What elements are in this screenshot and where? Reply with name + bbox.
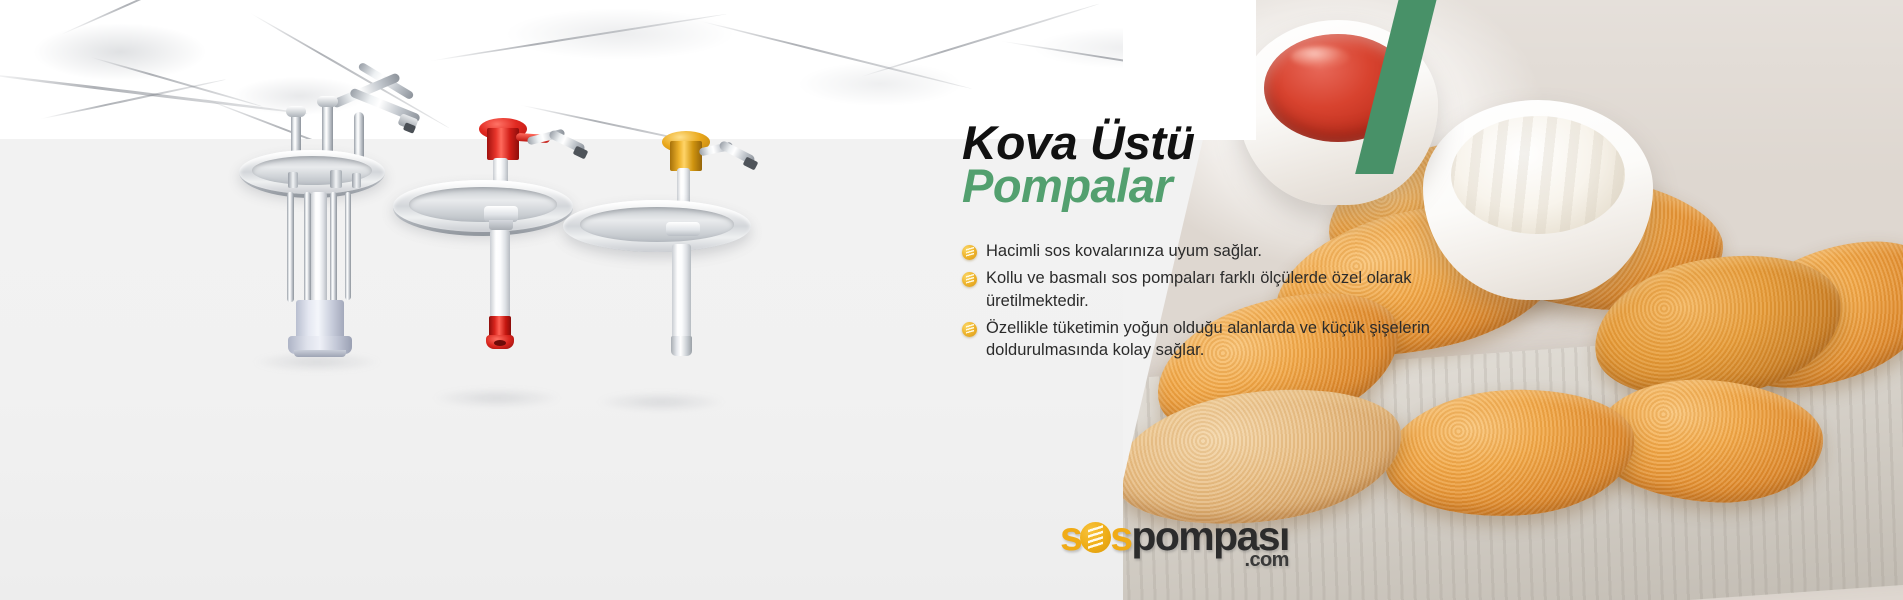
spiral-badge-icon <box>962 245 977 260</box>
spiral-coil-icon <box>1080 522 1111 553</box>
list-item: Kollu ve basmalı sos pompaları farklı öl… <box>962 267 1432 313</box>
headline: Kova Üstü Pompalar <box>962 120 1432 208</box>
logo-letter-s-second: s <box>1110 516 1131 557</box>
spiral-badge-icon <box>962 272 977 287</box>
text-content-panel: Kova Üstü Pompalar Hacimli sos kovaların… <box>962 120 1432 366</box>
feature-list: Hacimli sos kovalarınıza uyum sağlar. Ko… <box>962 240 1432 362</box>
feature-text: Özellikle tüketimin yoğun olduğu alanlar… <box>986 317 1432 363</box>
list-item: Özellikle tüketimin yoğun olduğu alanlar… <box>962 317 1432 363</box>
feature-text: Kollu ve basmalı sos pompaları farklı öl… <box>986 267 1432 313</box>
spiral-badge-icon <box>962 322 977 337</box>
brand-logo[interactable]: s s pompası .com <box>1060 516 1289 572</box>
logo-letter-s-first: s <box>1060 516 1081 557</box>
headline-line-1: Kova Üstü <box>962 120 1441 165</box>
headline-line-2: Pompalar <box>962 163 1432 208</box>
feature-text: Hacimli sos kovalarınıza uyum sağlar. <box>986 240 1262 263</box>
list-item: Hacimli sos kovalarınıza uyum sağlar. <box>962 240 1432 263</box>
product-banner: Kova Üstü Pompalar Hacimli sos kovaların… <box>0 0 1903 600</box>
